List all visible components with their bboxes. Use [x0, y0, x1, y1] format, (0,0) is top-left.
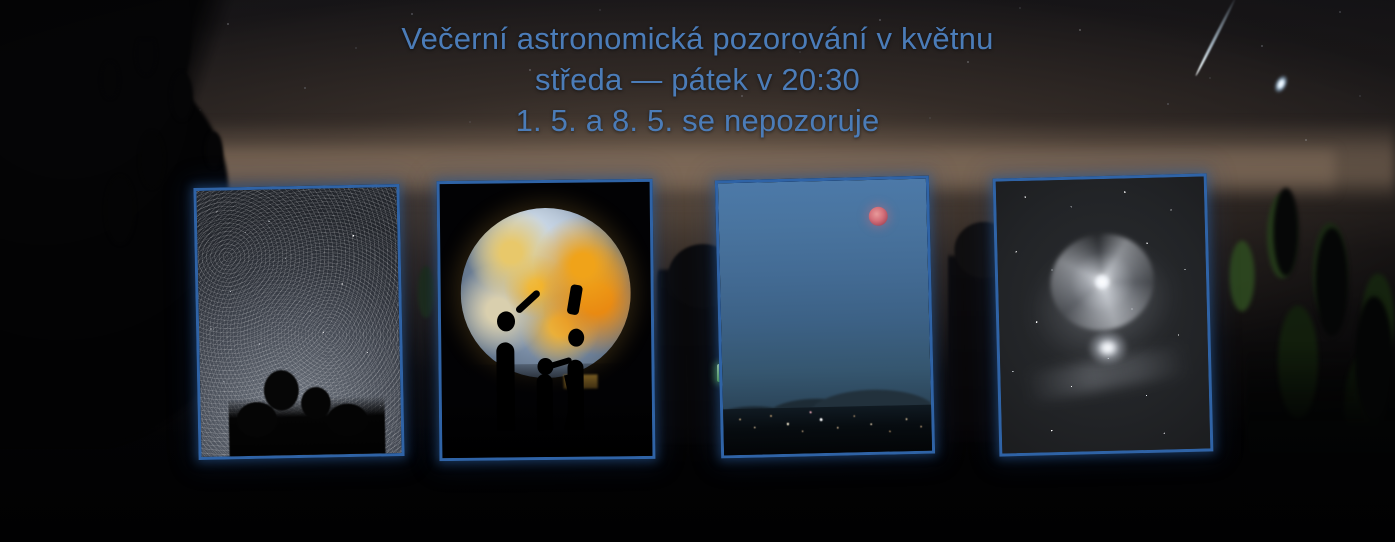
starfield-tree-silhouette	[228, 364, 386, 460]
title-line-3: 1. 5. a 8. 5. se nepozoruje	[0, 100, 1395, 141]
photo-card-starfield[interactable]	[193, 184, 404, 460]
title-line-1: Večerní astronomická pozorování v květnu	[0, 18, 1395, 59]
child-silhouette-body	[536, 374, 553, 430]
adult-silhouette-head	[497, 311, 515, 331]
poster-title: Večerní astronomická pozorování v květnu…	[0, 18, 1395, 141]
photo-card-lunar-eclipse[interactable]	[715, 176, 935, 459]
globe-sphere	[460, 207, 632, 379]
telescope-tripod-leg-3	[571, 375, 576, 429]
photo-card-observers[interactable]	[437, 179, 656, 461]
city-lights	[723, 404, 932, 444]
title-line-2: středa — pátek v 20:30	[0, 59, 1395, 100]
photo-card-galaxy[interactable]	[993, 173, 1214, 456]
poster-canvas: Večerní astronomická pozorování v květnu…	[0, 0, 1395, 542]
adult-silhouette-body	[496, 342, 515, 430]
